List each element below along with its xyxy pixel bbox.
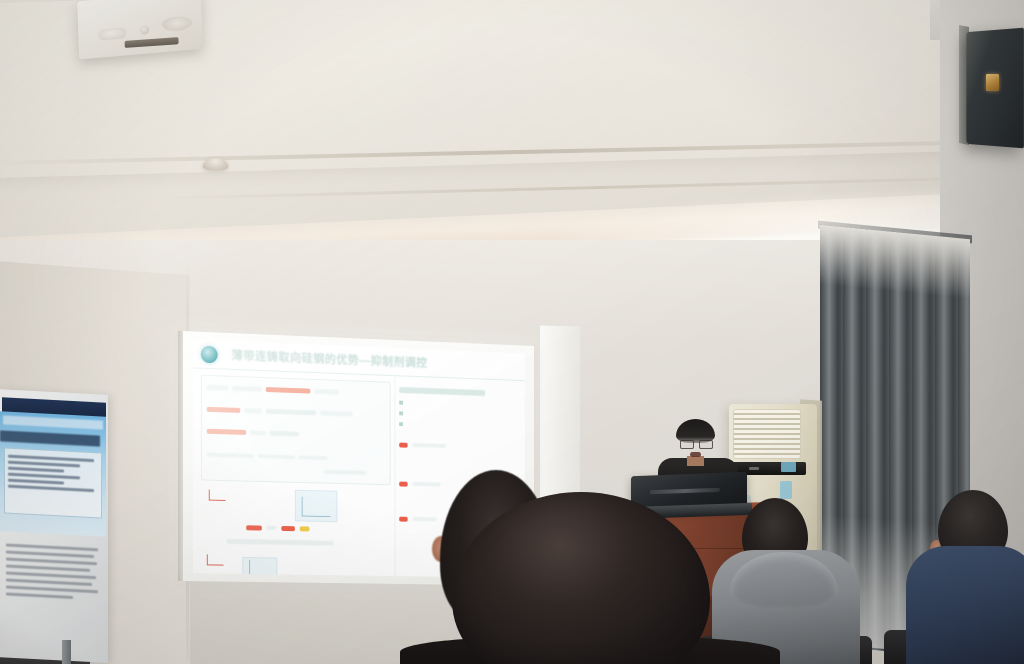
projector-lens-secondary-icon bbox=[162, 15, 192, 32]
mini-chart-upper bbox=[295, 490, 337, 522]
mini-chart-lower bbox=[242, 557, 277, 578]
poster-info-card bbox=[4, 447, 102, 518]
presenter-mouth bbox=[690, 452, 701, 457]
slide-left-column bbox=[193, 368, 395, 577]
process-comparison-panel bbox=[201, 375, 391, 486]
audience-member-navy-jacket bbox=[906, 546, 1024, 664]
ac-sticker-icon bbox=[780, 481, 792, 499]
bullet-square-icon bbox=[399, 401, 403, 405]
presenter-glasses-icon bbox=[680, 440, 711, 447]
ac-air-grille-icon bbox=[733, 409, 801, 459]
right-column-heading bbox=[399, 387, 485, 396]
process-diagram-lower bbox=[201, 548, 391, 578]
diagram-caption bbox=[227, 539, 334, 546]
bullet-item bbox=[399, 419, 519, 430]
slide-title: 薄带连铸取向硅钢的优势—抑制剂调控 bbox=[231, 347, 427, 371]
university-emblem-logo bbox=[201, 345, 218, 363]
projector-vent-icon bbox=[125, 37, 179, 48]
projector-lens-icon bbox=[98, 27, 126, 40]
bullet-item bbox=[399, 398, 519, 409]
process-diagram-upper bbox=[201, 485, 391, 537]
poster-abstract bbox=[2, 535, 106, 660]
bullet-item bbox=[399, 408, 519, 419]
projector-focus-knob[interactable] bbox=[140, 25, 149, 35]
smoke-detector bbox=[203, 158, 228, 170]
poster-stand-leg bbox=[62, 640, 71, 664]
panel-footnote bbox=[324, 470, 366, 475]
bullet-square-icon bbox=[399, 422, 403, 426]
ac-brand-badge-icon bbox=[781, 462, 796, 472]
bullet-square-icon bbox=[399, 411, 403, 415]
lecture-hall-scene: 薄带连铸取向硅钢的优势—抑制剂调控 bbox=[0, 0, 1024, 664]
speaker-brand-logo-icon bbox=[986, 74, 999, 91]
